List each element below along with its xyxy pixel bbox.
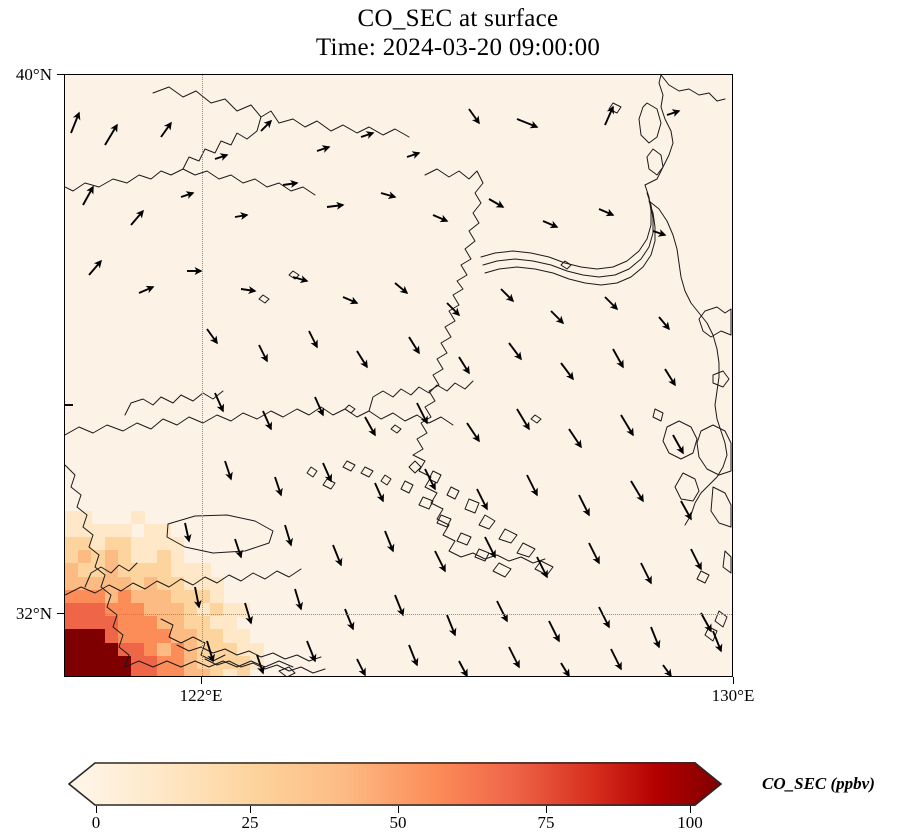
colorbar-tick-mark bbox=[398, 806, 399, 813]
map-plot-area bbox=[64, 74, 733, 677]
x-tick-mark bbox=[733, 677, 734, 684]
colorbar: 0255075100 CO_SEC (ppbv) bbox=[0, 756, 916, 836]
y-tick-label: 40°N bbox=[0, 66, 52, 83]
chart-title-block: CO_SEC at surface Time: 2024-03-20 09:00… bbox=[0, 4, 916, 62]
colorbar-tick-label: 50 bbox=[348, 814, 448, 832]
colorbar-tick-mark bbox=[250, 806, 251, 813]
y-tick-mark bbox=[57, 74, 64, 75]
y-tick-label: 32°N bbox=[0, 605, 52, 622]
gridline-32N bbox=[65, 614, 732, 615]
x-tick-label: 130°E bbox=[673, 687, 793, 704]
colorbar-tick-label: 100 bbox=[640, 814, 740, 832]
colorbar-tick-label: 75 bbox=[496, 814, 596, 832]
colorbar-tick-label: 25 bbox=[200, 814, 300, 832]
colorbar-outline bbox=[68, 762, 722, 806]
chart-title: CO_SEC at surface bbox=[0, 4, 916, 33]
x-tick-mark bbox=[201, 677, 202, 684]
y-tick-mark bbox=[57, 613, 64, 614]
x-tick-label: 122°E bbox=[141, 687, 261, 704]
gridline-122E bbox=[202, 75, 203, 676]
map-inner bbox=[65, 75, 732, 676]
colorbar-tick-mark bbox=[546, 806, 547, 813]
colorbar-tick-mark bbox=[690, 806, 691, 813]
wind-vector-overlay bbox=[65, 75, 732, 676]
colorbar-tick-mark bbox=[96, 806, 97, 813]
colorbar-shape bbox=[68, 762, 722, 806]
chart-subtitle-time: Time: 2024-03-20 09:00:00 bbox=[0, 33, 916, 62]
colorbar-label: CO_SEC (ppbv) bbox=[762, 774, 875, 794]
colorbar-tick-label: 0 bbox=[46, 814, 146, 832]
